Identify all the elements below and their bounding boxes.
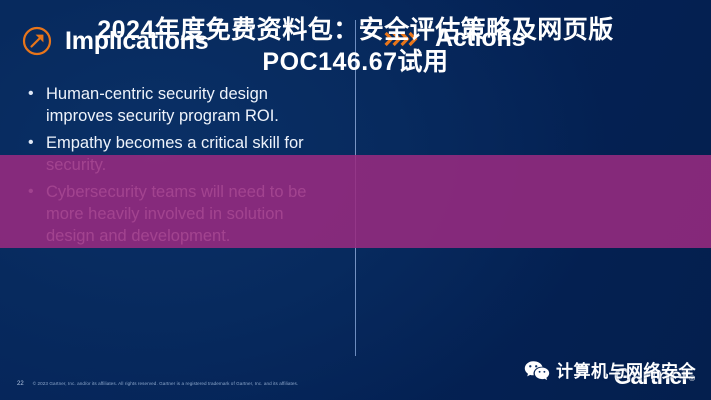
list-item: Human-centric security design improves s… [24, 84, 334, 128]
actions-heading-row: Actions [384, 26, 525, 51]
wechat-label: 计算机与网络安全 [556, 363, 696, 380]
chevrons-right-icon [384, 29, 422, 49]
implications-heading-text: Implications [65, 29, 208, 54]
wechat-icon [524, 360, 550, 382]
presentation-slide: Implications Human-centric security desi… [0, 0, 711, 400]
arrow-circle-icon [22, 26, 52, 56]
copyright-notice: © 2023 Gartner, Inc. and/or its affiliat… [33, 382, 299, 387]
slide-footer: 22 © 2023 Gartner, Inc. and/or its affil… [17, 381, 298, 387]
implications-heading-row: Implications [22, 26, 208, 56]
actions-heading-text: Actions [435, 26, 525, 51]
page-number: 22 [17, 381, 24, 387]
promo-banner [0, 155, 711, 248]
wechat-watermark: 计算机与网络安全 [524, 360, 696, 382]
